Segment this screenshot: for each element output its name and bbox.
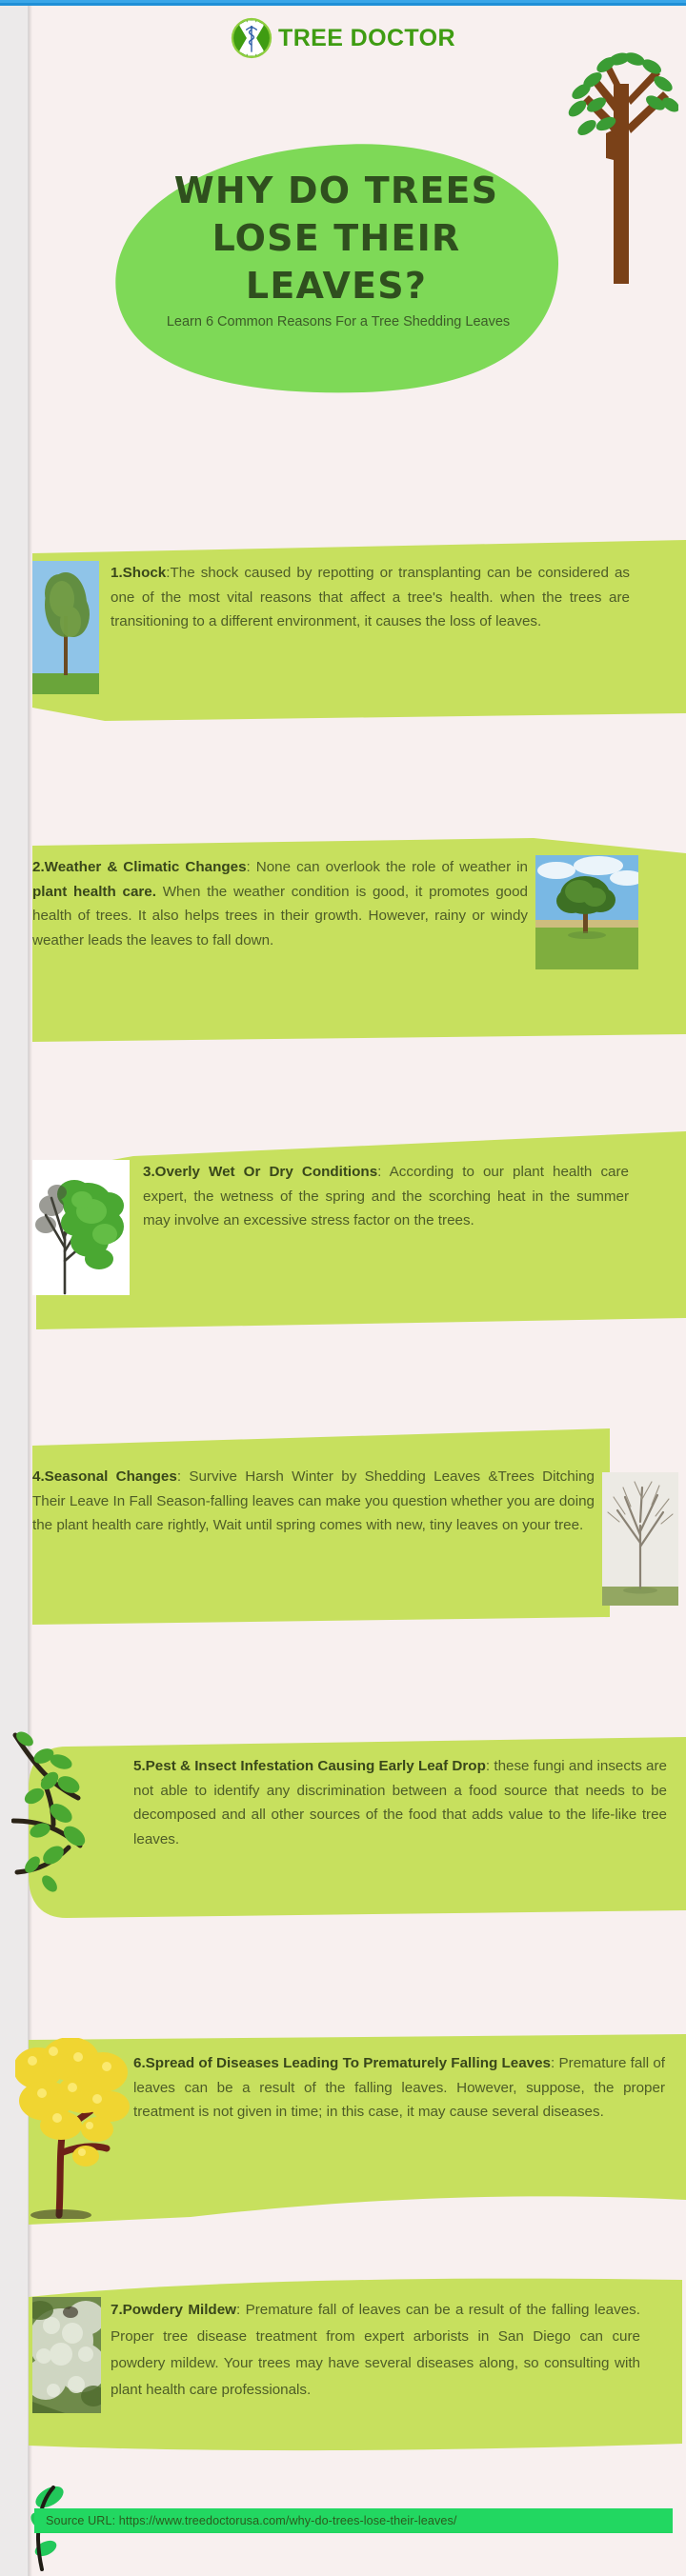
section-3-image — [32, 1160, 130, 1295]
section-6-separator: : — [551, 2055, 558, 2071]
section-1-number: 1. — [111, 565, 123, 581]
section-1-heading: Shock — [123, 565, 167, 581]
section-3-heading: Overly Wet Or Dry Conditions — [155, 1164, 377, 1180]
section-6-number: 6. — [133, 2055, 146, 2071]
section-5-text: 5.Pest & Insect Infestation Causing Earl… — [133, 1754, 667, 1851]
browser-top-bar — [0, 0, 686, 6]
section-1-band: 1.Shock:The shock caused by repotting or… — [0, 540, 686, 730]
browser-top-bar-highlight — [0, 0, 686, 3]
section-7-number: 7. — [111, 2302, 123, 2318]
source-url-text[interactable]: Source URL: https://www.treedoctorusa.co… — [34, 2514, 456, 2527]
infographic-page: TREE DOCTOR — [0, 0, 686, 2576]
section-5-heading: Pest & Insect Infestation Causing Early … — [146, 1758, 486, 1774]
section-2-separator: : — [247, 859, 256, 875]
section-4-number: 4. — [32, 1468, 45, 1485]
section-2-heading: Weather & Climatic Changes — [45, 859, 247, 875]
section-6-text: 6.Spread of Diseases Leading To Prematur… — [133, 2051, 665, 2125]
page-title: WHY DO TREES LOSE THEIR LEAVES? — [112, 167, 560, 310]
section-3-band: 3.Overly Wet Or Dry Conditions: Accordin… — [0, 1131, 686, 1341]
page-title-line-3: LEAVES? — [112, 262, 560, 310]
section-3-separator: : — [377, 1164, 389, 1180]
section-4-text: 4.Seasonal Changes: Survive Harsh Winter… — [32, 1465, 595, 1538]
section-1-text: 1.Shock:The shock caused by repotting or… — [111, 561, 630, 634]
section-1-body: The shock caused by repotting or transpl… — [111, 565, 630, 629]
decorative-tree-icon — [564, 46, 678, 284]
section-4-separator: : — [177, 1468, 190, 1485]
page-title-line-1: WHY DO TREES — [112, 167, 560, 214]
section-1-image — [32, 561, 99, 694]
section-2-inline-bold: plant health care. — [32, 884, 156, 900]
section-6-band: 6.Spread of Diseases Leading To Prematur… — [0, 2034, 686, 2239]
section-4-band: 4.Seasonal Changes: Survive Harsh Winter… — [0, 1427, 686, 1636]
page-subtitle: Learn 6 Common Reasons For a Tree Sheddi… — [143, 312, 534, 332]
section-2-band: 2.Weather & Climatic Changes: None can o… — [0, 838, 686, 1052]
section-4-heading: Seasonal Changes — [45, 1468, 177, 1485]
tree-doctor-caduceus-logo-icon — [231, 17, 272, 59]
section-4-image — [602, 1472, 678, 1606]
section-7-image — [32, 2297, 101, 2413]
section-5-band: 5.Pest & Insect Infestation Causing Earl… — [0, 1733, 686, 1928]
section-2-image — [535, 855, 638, 969]
section-3-number: 3. — [143, 1164, 155, 1180]
section-7-heading: Powdery Mildew — [123, 2302, 236, 2318]
section-2-number: 2. — [32, 859, 45, 875]
section-6-heading: Spread of Diseases Leading To Prematurel… — [146, 2055, 551, 2071]
section-3-text: 3.Overly Wet Or Dry Conditions: Accordin… — [143, 1160, 629, 1233]
section-2-body-before: None can overlook the role of weather in — [256, 859, 528, 875]
brand-name: TREE DOCTOR — [278, 25, 455, 52]
section-5-number: 5. — [133, 1758, 146, 1774]
section-7-text: 7.Powdery Mildew: Premature fall of leav… — [111, 2297, 640, 2404]
section-2-text: 2.Weather & Climatic Changes: None can o… — [32, 855, 528, 952]
section-7-band: 7.Powdery Mildew: Premature fall of leav… — [0, 2276, 686, 2471]
source-url-bar[interactable]: Source URL: https://www.treedoctorusa.co… — [34, 2508, 673, 2533]
section-7-separator: : — [236, 2302, 246, 2318]
page-title-line-2: LOSE THEIR — [112, 214, 560, 262]
